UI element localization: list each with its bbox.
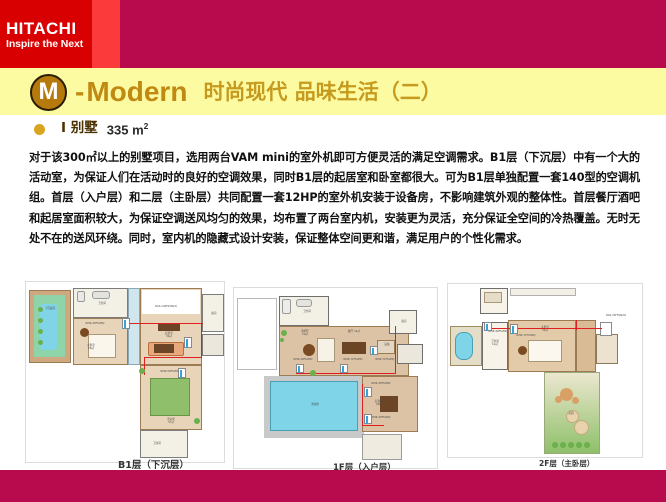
section-heading: I 别墅 335 m2 <box>34 122 148 136</box>
slide-page: HITACHI Inspire the Next M - Modern 时尚现代… <box>0 0 666 502</box>
page-title: Modern <box>86 78 187 106</box>
logo-accent-stripe <box>92 0 120 68</box>
slide-title-row: M - Modern 时尚现代 品味生活（二） <box>30 70 442 114</box>
area-value: 335 <box>107 122 129 137</box>
floorplan-1f[interactable]: 卫生间 酒吧厅20㎡ 餐厅 32㎡ RPIZ-28FSVNQ RPIZ-71FS… <box>233 287 438 469</box>
body-paragraph: 对于该300㎡以上的别墅项目，选用两台VAM mini的室外机即可方便灵活的满足… <box>29 148 640 249</box>
floorplan-2f-drawing: 卫生间12㎡ RPIZ-40FSVNQ 主卧室32㎡ RPIZ-71FSVNQ … <box>448 284 642 457</box>
floorplan-2f[interactable]: 卫生间12㎡ RPIZ-40FSVNQ 主卧室32㎡ RPIZ-71FSVNQ … <box>447 283 643 458</box>
floorplan-1f-drawing: 卫生间 酒吧厅20㎡ 餐厅 32㎡ RPIZ-28FSVNQ RPIZ-71FS… <box>234 288 437 468</box>
header-band: HITACHI Inspire the Next <box>0 0 666 68</box>
brand-tagline: Inspire the Next <box>6 39 83 50</box>
area-exponent: 2 <box>144 121 149 131</box>
bullet-dot-icon <box>34 124 45 135</box>
section-heading-area: 335 m2 <box>107 122 149 136</box>
floorplan-b1-drawing: 下沉庭院 卫生间 RPIZ-40FSVNQ 主卧室28㎡ RAS-140FSVN… <box>26 282 224 462</box>
area-unit: m <box>132 122 144 137</box>
page-subtitle-chinese: 时尚现代 品味生活（二） <box>203 82 441 103</box>
floorplan-b1[interactable]: 下沉庭院 卫生间 RPIZ-40FSVNQ 主卧室28㎡ RAS-140FSVN… <box>25 281 225 463</box>
modern-badge-icon: M <box>30 74 67 111</box>
title-dash: - <box>75 78 84 106</box>
site-watermark: www.shzh.net <box>430 480 666 502</box>
watermark-wrap: www.shzh.net <box>430 470 666 502</box>
brand-wordmark: HITACHI <box>6 20 76 37</box>
floorplan-2f-caption: 2F层（主卧层） <box>539 460 594 468</box>
section-heading-label: I 别墅 <box>61 122 98 136</box>
